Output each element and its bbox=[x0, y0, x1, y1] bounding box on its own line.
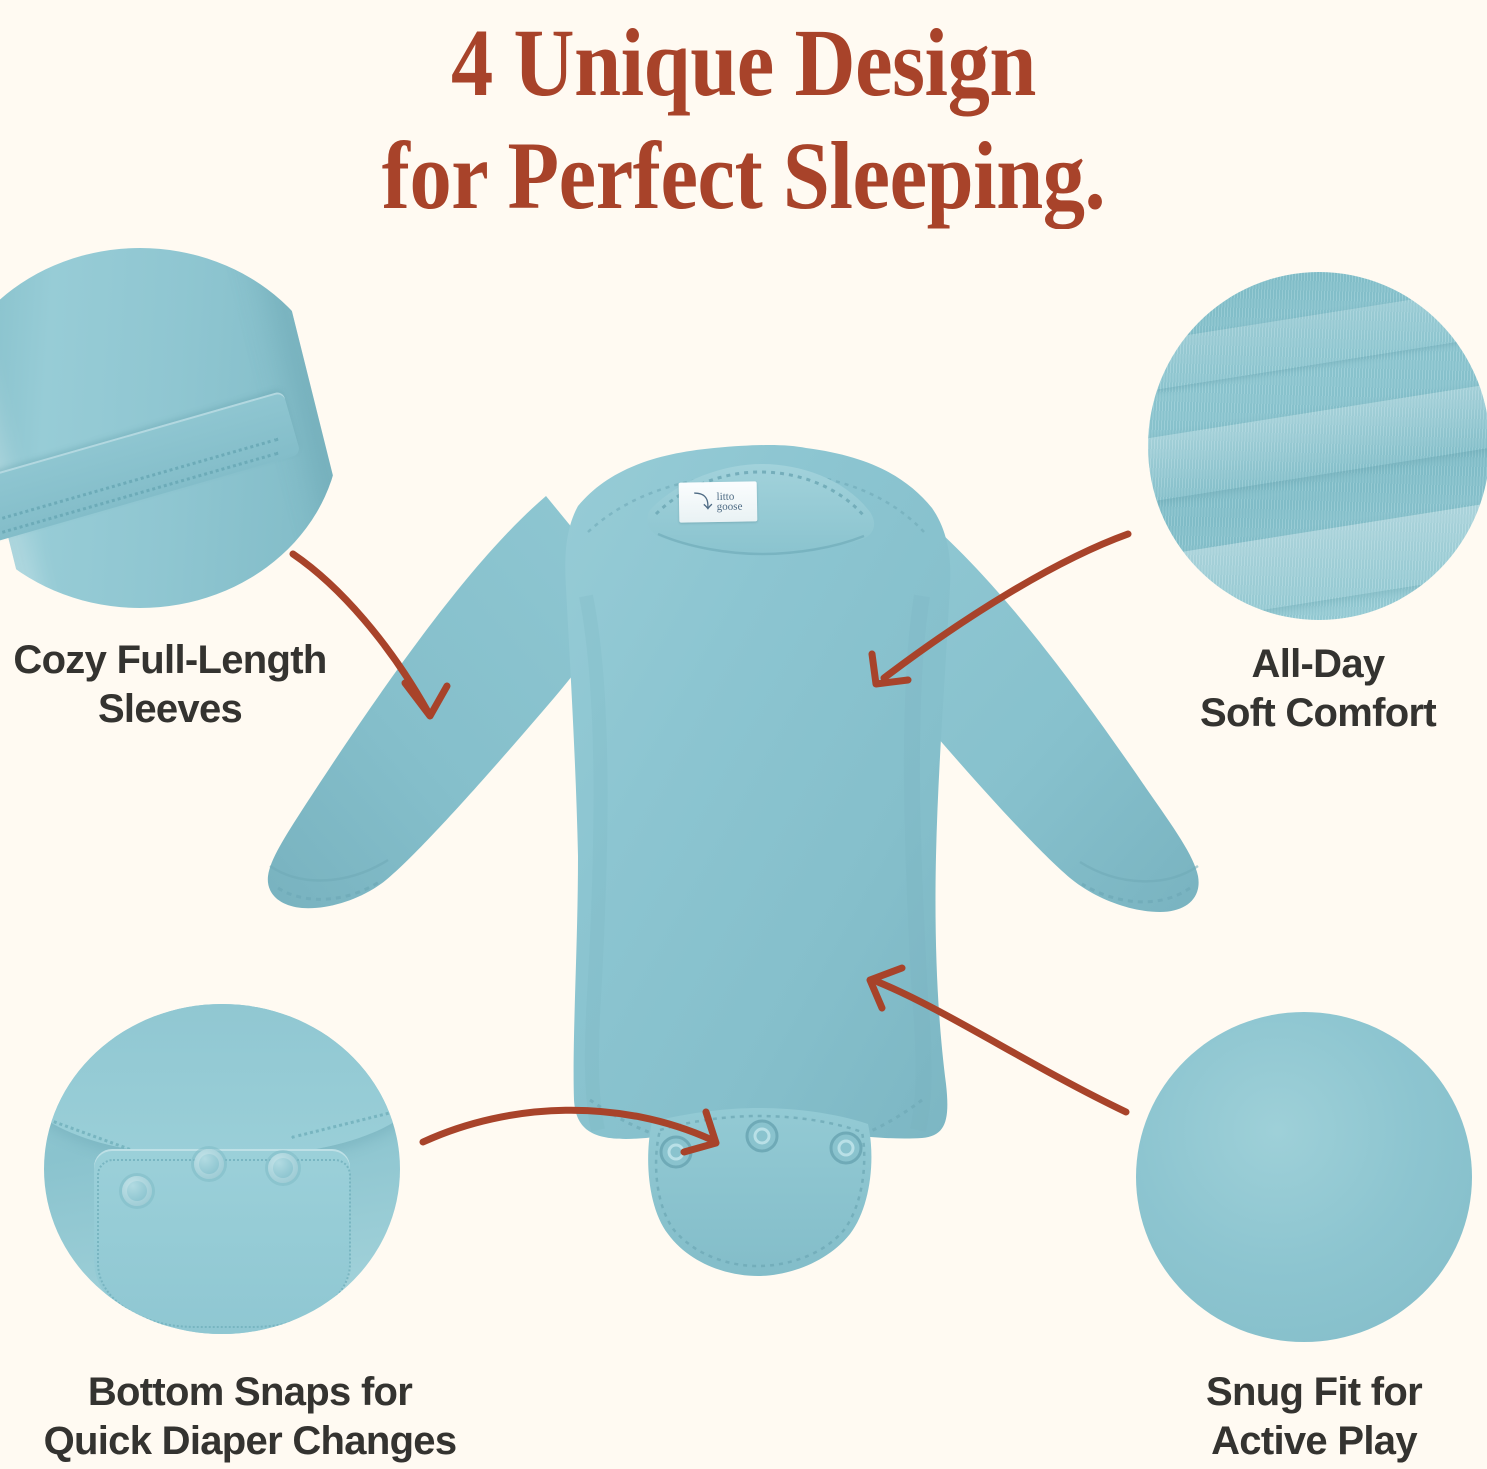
brand-word-2: goose bbox=[717, 502, 743, 512]
bodysuit-product-image: ⤵ litto goose bbox=[236, 418, 1252, 1298]
feature-label-snugfit: Snug Fit for Active Play bbox=[1140, 1368, 1487, 1466]
brand-neck-tag: ⤵ litto goose bbox=[679, 481, 758, 522]
feature-label-snugfit-line-2: Active Play bbox=[1140, 1417, 1487, 1466]
feature-label-snaps-line-1: Bottom Snaps for bbox=[0, 1368, 500, 1417]
snap-button-1 bbox=[122, 1176, 152, 1206]
product-feature-infographic: 4 Unique Design for Perfect Sleeping. bbox=[0, 0, 1487, 1469]
headline-line-2: for Perfect Sleeping. bbox=[89, 119, 1398, 232]
feature-label-comfort-line-2: Soft Comfort bbox=[1148, 689, 1487, 738]
feature-label-sleeves-line-1: Cozy Full-Length bbox=[0, 636, 346, 685]
feature-label-sleeves-line-2: Sleeves bbox=[0, 685, 346, 734]
feature-label-comfort: All-Day Soft Comfort bbox=[1148, 640, 1487, 738]
goose-icon: ⤵ bbox=[693, 493, 712, 512]
page-title: 4 Unique Design for Perfect Sleeping. bbox=[89, 6, 1398, 233]
snap-button-2 bbox=[194, 1149, 224, 1179]
feature-label-snaps-line-2: Quick Diaper Changes bbox=[0, 1417, 500, 1466]
headline-line-1: 4 Unique Design bbox=[89, 6, 1398, 119]
brand-name: litto goose bbox=[716, 492, 742, 512]
bodysuit-torso bbox=[565, 445, 950, 1276]
feature-label-snaps: Bottom Snaps for Quick Diaper Changes bbox=[0, 1368, 500, 1466]
feature-label-sleeves: Cozy Full-Length Sleeves bbox=[0, 636, 346, 734]
bodysuit-svg bbox=[236, 418, 1252, 1298]
feature-label-comfort-line-1: All-Day bbox=[1148, 640, 1487, 689]
feature-label-snugfit-line-1: Snug Fit for bbox=[1140, 1368, 1487, 1417]
